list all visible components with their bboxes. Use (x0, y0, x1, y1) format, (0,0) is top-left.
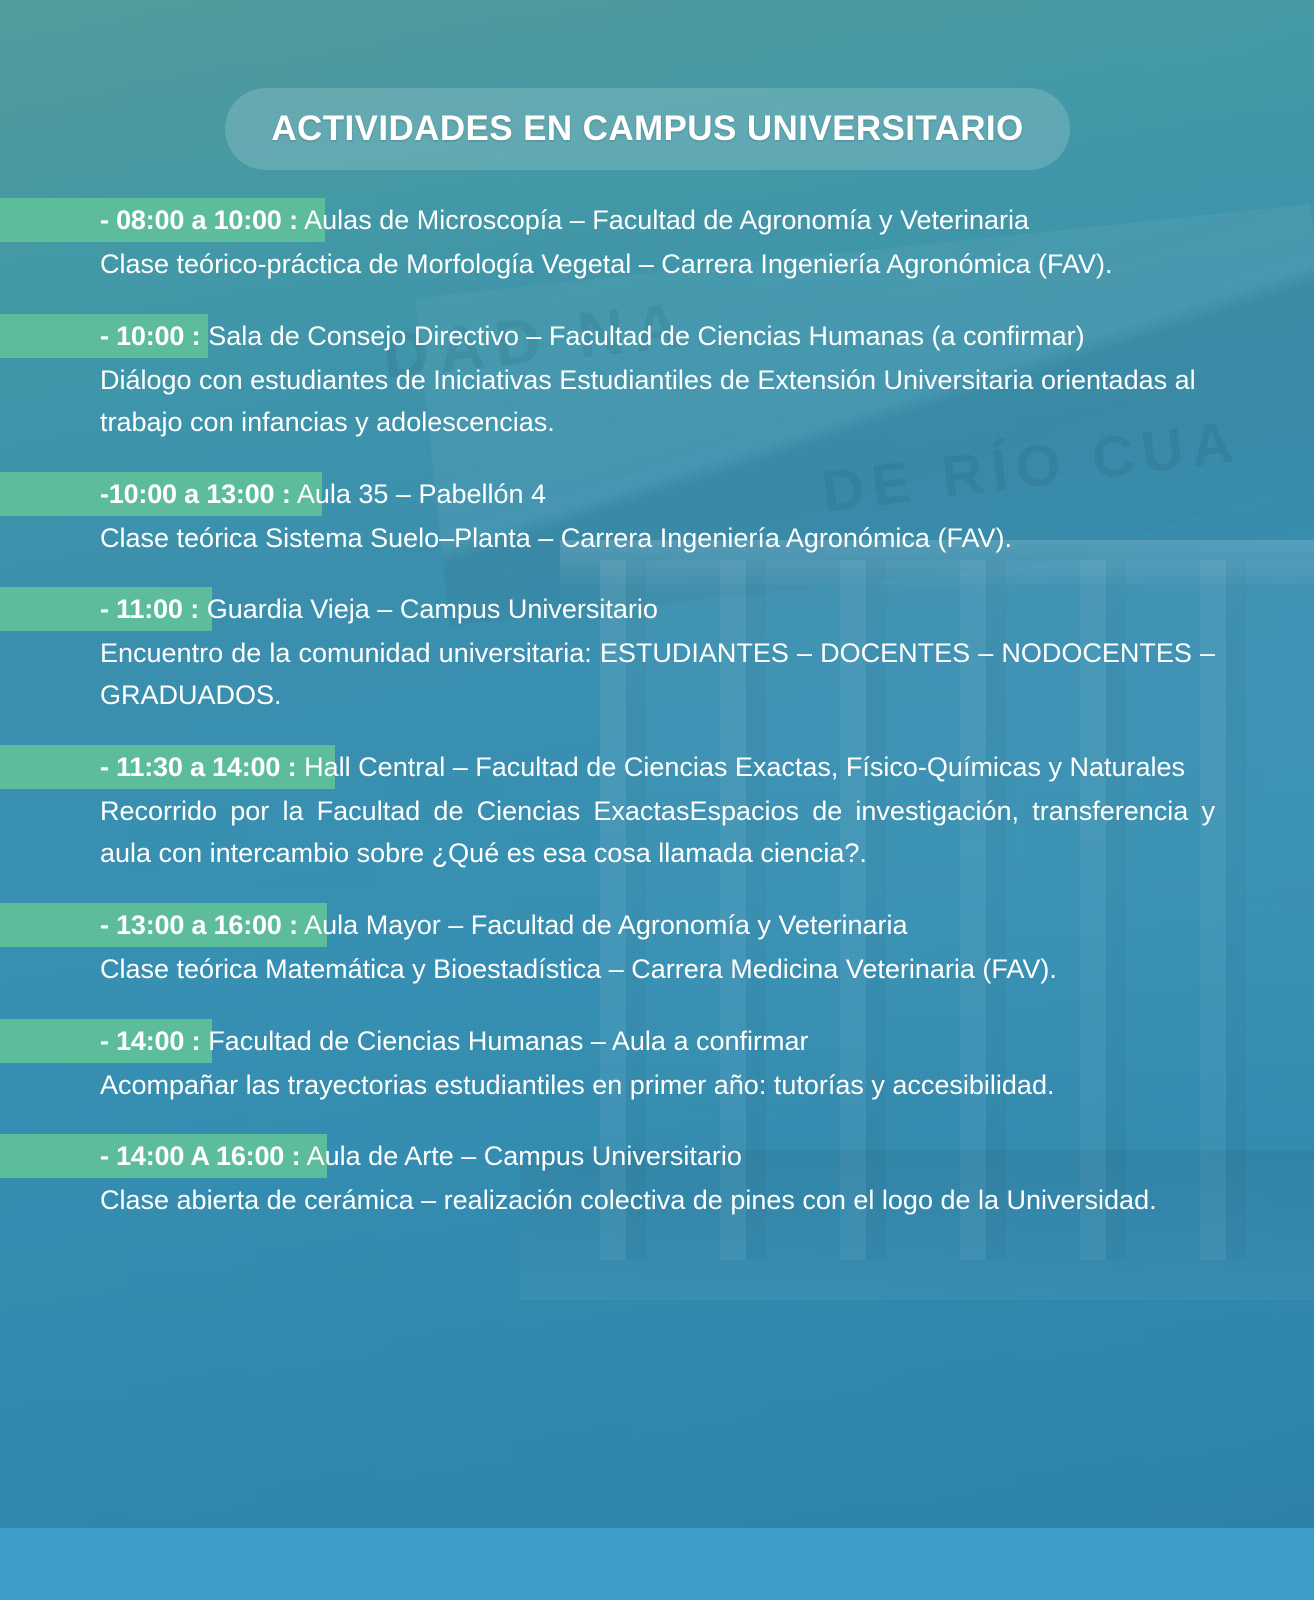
activity-header-row: - 08:00 a 10:00 : Aulas de Microscopía –… (0, 196, 1314, 244)
activity-time: - 11:00 (100, 594, 183, 624)
activity-entry: - 13:00 a 16:00 : Aula Mayor – Facultad … (0, 901, 1314, 991)
activity-header-line: - 08:00 a 10:00 : Aulas de Microscopía –… (100, 196, 1215, 244)
activity-entry: -10:00 a 13:00 : Aula 35 – Pabellón 4Cla… (0, 470, 1314, 560)
activity-header-row: - 10:00 : Sala de Consejo Directivo – Fa… (0, 312, 1314, 360)
activity-header-line: - 14:00 : Facultad de Ciencias Humanas –… (100, 1017, 1215, 1065)
activity-header-line: - 11:00 : Guardia Vieja – Campus Univers… (100, 585, 1215, 633)
activity-description: Recorrido por la Facultad de Ciencias Ex… (100, 791, 1215, 875)
activity-time: - 14:00 A 16:00 (100, 1141, 284, 1171)
activity-separator: : (192, 1026, 201, 1056)
activity-separator: : (192, 321, 201, 351)
activity-header-row: - 11:00 : Guardia Vieja – Campus Univers… (0, 585, 1314, 633)
activity-description: Clase teórica Sistema Suelo–Planta – Car… (100, 518, 1215, 560)
activity-separator: : (190, 594, 199, 624)
activity-time: - 10:00 (100, 321, 184, 351)
activity-header-line: -10:00 a 13:00 : Aula 35 – Pabellón 4 (100, 470, 1215, 518)
activity-place: Guardia Vieja – Campus Universitario (207, 594, 658, 624)
page-title: ACTIVIDADES EN CAMPUS UNIVERSITARIO (271, 109, 1023, 149)
activity-separator: : (289, 205, 298, 235)
activity-description: Encuentro de la comunidad universitaria:… (100, 633, 1215, 717)
activity-entry: - 10:00 : Sala de Consejo Directivo – Fa… (0, 312, 1314, 444)
activity-header-line: - 10:00 : Sala de Consejo Directivo – Fa… (100, 312, 1215, 360)
activity-entry: - 08:00 a 10:00 : Aulas de Microscopía –… (0, 196, 1314, 286)
activity-time: - 11:30 a 14:00 (100, 752, 280, 782)
activity-time: - 08:00 a 10:00 (100, 205, 282, 235)
activity-time: -10:00 a 13:00 (100, 479, 274, 509)
activity-description: Clase teórico-práctica de Morfología Veg… (100, 244, 1215, 286)
activity-entry: - 11:00 : Guardia Vieja – Campus Univers… (0, 585, 1314, 717)
activity-entry: - 11:30 a 14:00 : Hall Central – Faculta… (0, 743, 1314, 875)
activity-separator: : (282, 479, 291, 509)
activity-place: Aulas de Microscopía – Facultad de Agron… (304, 205, 1029, 235)
activity-header-row: - 14:00 : Facultad de Ciencias Humanas –… (0, 1017, 1314, 1065)
activities-list: - 08:00 a 10:00 : Aulas de Microscopía –… (0, 196, 1314, 1248)
activity-place: Sala de Consejo Directivo – Facultad de … (208, 321, 1084, 351)
activity-header-line: - 11:30 a 14:00 : Hall Central – Faculta… (100, 743, 1215, 791)
activity-header-row: - 11:30 a 14:00 : Hall Central – Faculta… (0, 743, 1314, 791)
activity-place: Aula Mayor – Facultad de Agronomía y Vet… (304, 910, 907, 940)
activity-header-line: - 14:00 A 16:00 : Aula de Arte – Campus … (100, 1132, 1215, 1180)
activity-separator: : (289, 910, 298, 940)
activity-description: Acompañar las trayectorias estudiantiles… (100, 1065, 1215, 1107)
activity-entry: - 14:00 : Facultad de Ciencias Humanas –… (0, 1017, 1314, 1107)
activity-header-row: - 13:00 a 16:00 : Aula Mayor – Facultad … (0, 901, 1314, 949)
activity-separator: : (292, 1141, 301, 1171)
activity-entry: - 14:00 A 16:00 : Aula de Arte – Campus … (0, 1132, 1314, 1222)
activity-separator: : (288, 752, 297, 782)
activity-description: Clase teórica Matemática y Bioestadístic… (100, 949, 1215, 991)
activity-header-line: - 13:00 a 16:00 : Aula Mayor – Facultad … (100, 901, 1215, 949)
activity-place: Aula 35 – Pabellón 4 (297, 479, 546, 509)
bottom-color-band (0, 1528, 1314, 1600)
activity-description: Clase abierta de cerámica – realización … (100, 1180, 1215, 1222)
activity-description: Diálogo con estudiantes de Iniciativas E… (100, 360, 1215, 444)
activity-place: Hall Central – Facultad de Ciencias Exac… (304, 752, 1185, 782)
activity-header-row: -10:00 a 13:00 : Aula 35 – Pabellón 4 (0, 470, 1314, 518)
activities-poster: DAD NA DE RÍO CUA ACTIVIDADES EN CAMPUS … (0, 0, 1314, 1600)
activity-header-row: - 14:00 A 16:00 : Aula de Arte – Campus … (0, 1132, 1314, 1180)
activity-place: Aula de Arte – Campus Universitario (307, 1141, 742, 1171)
page-title-pill: ACTIVIDADES EN CAMPUS UNIVERSITARIO (225, 88, 1070, 170)
activity-place: Facultad de Ciencias Humanas – Aula a co… (208, 1026, 808, 1056)
activity-time: - 13:00 a 16:00 (100, 910, 282, 940)
activity-time: - 14:00 (100, 1026, 184, 1056)
